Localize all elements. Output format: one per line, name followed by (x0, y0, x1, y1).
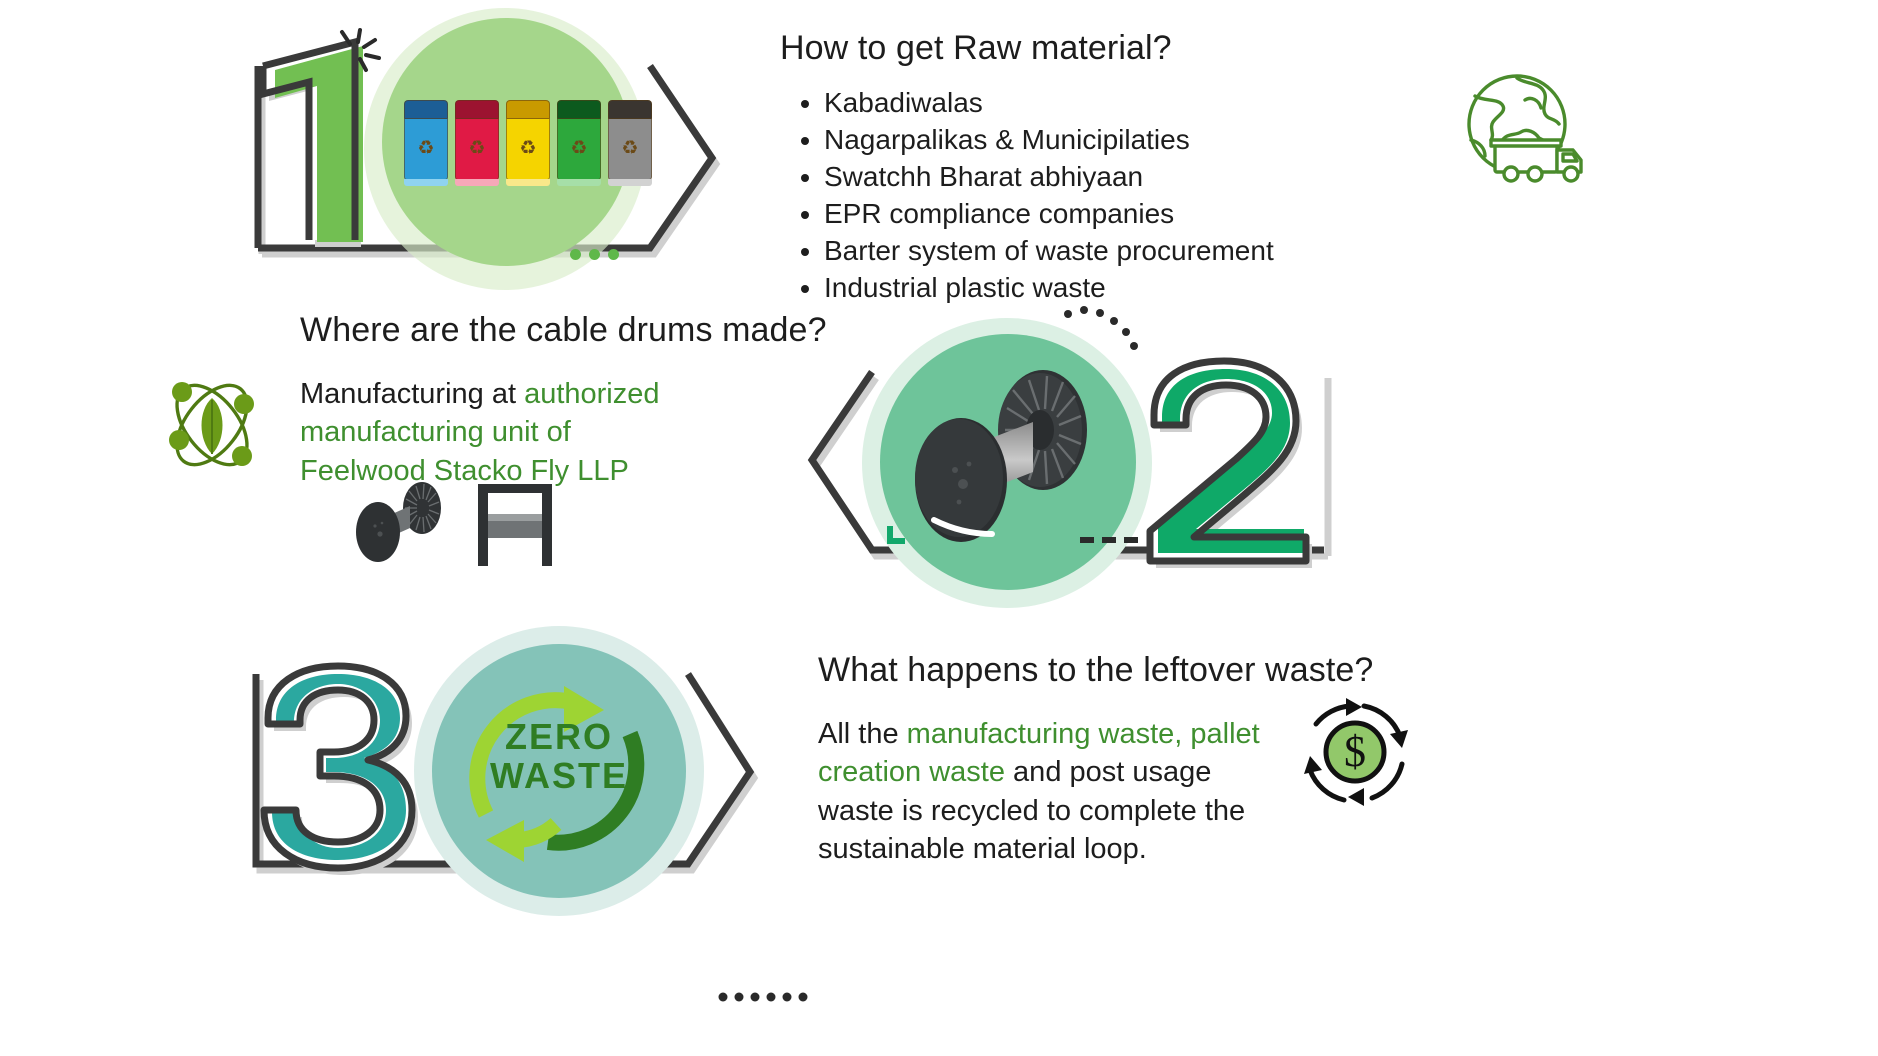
list-item: Barter system of waste procurement (824, 233, 1464, 270)
green-recycle-bin: ♻ (557, 98, 601, 186)
grey-recycle-bin: ♻ (608, 98, 652, 186)
list-item: EPR compliance companies (824, 196, 1464, 233)
corner-L-mark (886, 524, 908, 546)
recycle-symbol-icon: ♻ (621, 139, 638, 158)
section-2-body: Manufacturing at authorized manufacturin… (300, 375, 700, 490)
bin-foot (557, 179, 601, 186)
atom-leaf-icon (160, 370, 265, 480)
cable-drum-front (472, 480, 562, 568)
bin-lid (455, 100, 499, 119)
bin-body: ♻ (506, 116, 550, 180)
cable-drum-angled (348, 482, 458, 568)
step-1-dot (570, 249, 581, 260)
sparkle-icon (328, 28, 382, 78)
bin-body: ♻ (557, 116, 601, 180)
section-3-heading: What happens to the leftover waste? (818, 650, 1458, 691)
step-2-highlight-streak (930, 516, 998, 538)
bin-foot (404, 179, 448, 186)
bin-body: ♻ (404, 116, 448, 180)
section-1-heading: How to get Raw material? (780, 28, 1400, 69)
list-item: Swatchh Bharat abhiyaan (824, 159, 1464, 196)
recycle-bins-icon: ♻♻♻♻♻ (404, 98, 652, 186)
section-1-bullet-list: Kabadiwalas Nagarpalikas & Municipilatie… (790, 85, 1464, 307)
recycle-symbol-icon: ♻ (417, 139, 434, 158)
bin-lid (557, 100, 601, 119)
bin-foot (506, 179, 550, 186)
bin-body: ♻ (608, 116, 652, 180)
dash-marks (1080, 533, 1146, 545)
section-3-body-prefix: All the (818, 718, 907, 750)
step-3-six-dots (718, 990, 808, 1004)
bin-foot (608, 179, 652, 186)
zero-waste-label: ZERO WASTE (484, 718, 634, 796)
step-1-dot (608, 249, 619, 260)
zero-waste-line-1: ZERO (484, 718, 634, 757)
step-2-numeral (1140, 355, 1340, 570)
section-2-heading: Where are the cable drums made? (300, 310, 940, 351)
recycle-symbol-icon: ♻ (570, 139, 587, 158)
recycle-symbol-icon: ♻ (468, 139, 485, 158)
bin-body: ♻ (455, 116, 499, 180)
list-item: Nagarpalikas & Municipilaties (824, 122, 1464, 159)
recycle-symbol-icon: ♻ (519, 139, 536, 158)
bin-lid (608, 100, 652, 119)
bin-lid (404, 100, 448, 119)
section-3-body: All the manufacturing waste, pallet crea… (818, 715, 1268, 868)
blue-recycle-bin: ♻ (404, 98, 448, 186)
red-recycle-bin: ♻ (455, 98, 499, 186)
zero-waste-line-2: WASTE (484, 757, 634, 796)
yellow-recycle-bin: ♻ (506, 98, 550, 186)
step-1-dot (589, 249, 600, 260)
bin-lid (506, 100, 550, 119)
globe-garbage-truck-icon (1455, 70, 1595, 190)
dollar-recycle-loop-icon: $ (1290, 690, 1420, 815)
bin-foot (455, 179, 499, 186)
section-2-body-prefix: Manufacturing at (300, 378, 524, 410)
list-item: Kabadiwalas (824, 85, 1464, 122)
dollar-symbol: $ (1344, 727, 1366, 776)
